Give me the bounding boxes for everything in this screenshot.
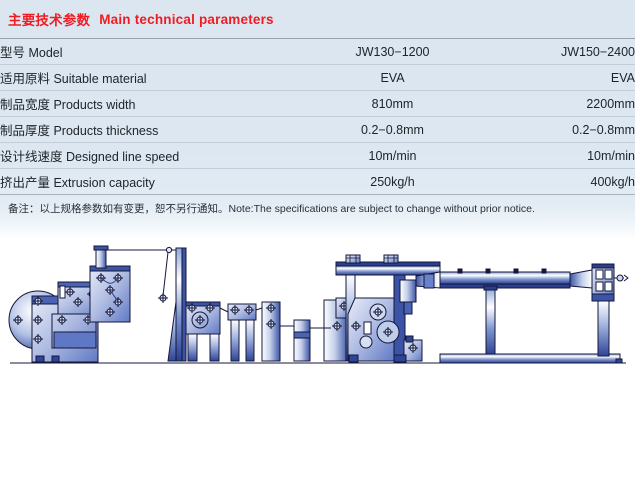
- row-label: 设计线速度 Designed line speed: [0, 143, 300, 169]
- page-title-en: Main technical parameters: [99, 12, 274, 27]
- row-label: 适用原料 Suitable material: [0, 65, 300, 91]
- table-row: 适用原料 Suitable material EVA EVA: [0, 65, 635, 91]
- table-row: 制品宽度 Products width 810mm 2200mm: [0, 91, 635, 117]
- row-value-2: JW150−2400: [485, 39, 635, 65]
- page-title: 主要技术参数 Main technical parameters: [0, 0, 635, 38]
- table-row: 制品厚度 Products thickness 0.2−0.8mm 0.2−0.…: [0, 117, 635, 143]
- footnote: 备注：以上规格参数如有变更，恕不另行通知。Note:The specificat…: [0, 195, 635, 221]
- row-value-2: 2200mm: [485, 91, 635, 117]
- extrusion-line-diagram: [0, 236, 635, 371]
- row-label: 挤出产量 Extrusion capacity: [0, 169, 300, 195]
- table-row: 挤出产量 Extrusion capacity 250kg/h 400kg/h: [0, 169, 635, 195]
- row-value-2: 10m/min: [485, 143, 635, 169]
- row-value-2: 400kg/h: [485, 169, 635, 195]
- row-value-1: EVA: [300, 65, 485, 91]
- table-row: 型号 Model JW130−1200 JW150−2400: [0, 39, 635, 65]
- spec-sheet-page: 主要技术参数 Main technical parameters 型号 Mode…: [0, 0, 635, 500]
- row-value-2: EVA: [485, 65, 635, 91]
- row-label: 制品厚度 Products thickness: [0, 117, 300, 143]
- specifications-block: 主要技术参数 Main technical parameters 型号 Mode…: [0, 0, 635, 221]
- row-value-1: 0.2−0.8mm: [300, 117, 485, 143]
- row-value-1: 10m/min: [300, 143, 485, 169]
- row-value-1: JW130−1200: [300, 39, 485, 65]
- row-label: 型号 Model: [0, 39, 300, 65]
- table-row: 设计线速度 Designed line speed 10m/min 10m/mi…: [0, 143, 635, 169]
- row-value-1: 810mm: [300, 91, 485, 117]
- row-value-2: 0.2−0.8mm: [485, 117, 635, 143]
- row-value-1: 250kg/h: [300, 169, 485, 195]
- row-label: 制品宽度 Products width: [0, 91, 300, 117]
- page-title-cn: 主要技术参数: [8, 9, 90, 29]
- specifications-table: 型号 Model JW130−1200 JW150−2400 适用原料 Suit…: [0, 39, 635, 194]
